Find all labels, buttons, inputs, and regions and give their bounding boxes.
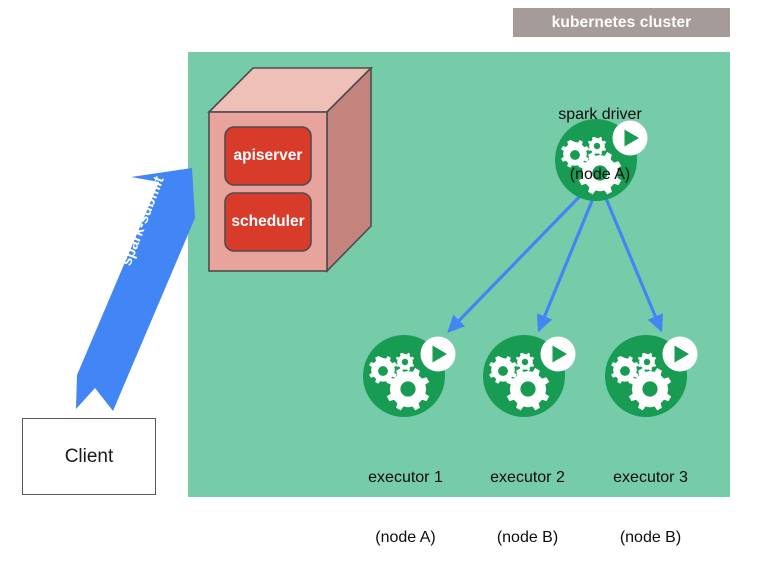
- executor-3-label-line1: executor 3: [578, 468, 723, 488]
- spark-driver-label: spark driver (node A): [515, 65, 685, 225]
- executor-1-play-badge-icon: [421, 337, 456, 372]
- kubernetes-cluster-label: kubernetes cluster: [552, 14, 692, 32]
- spark-driver-label-line1: spark driver: [515, 105, 685, 125]
- diagram-canvas: kubernetes cluster apiserver scheduler: [0, 0, 761, 516]
- apiserver-chip: [225, 127, 311, 185]
- client-box[interactable]: Client: [22, 418, 156, 495]
- executor-1-node[interactable]: [358, 328, 460, 420]
- executor-3-node[interactable]: [600, 328, 702, 420]
- spark-submit-arrow-shape: [76, 168, 195, 411]
- executor-3-label: executor 3 (node B): [578, 428, 723, 588]
- executor-2-play-badge-icon: [541, 337, 576, 372]
- executor-3-play-badge-icon: [663, 337, 698, 372]
- executor-3-label-line2: (node B): [578, 528, 723, 548]
- kubernetes-cluster-banner: kubernetes cluster: [513, 8, 730, 37]
- client-label: Client: [65, 446, 114, 468]
- spark-driver-label-line2: (node A): [515, 165, 685, 185]
- executor-2-node[interactable]: [478, 328, 580, 420]
- scheduler-chip: [225, 193, 311, 251]
